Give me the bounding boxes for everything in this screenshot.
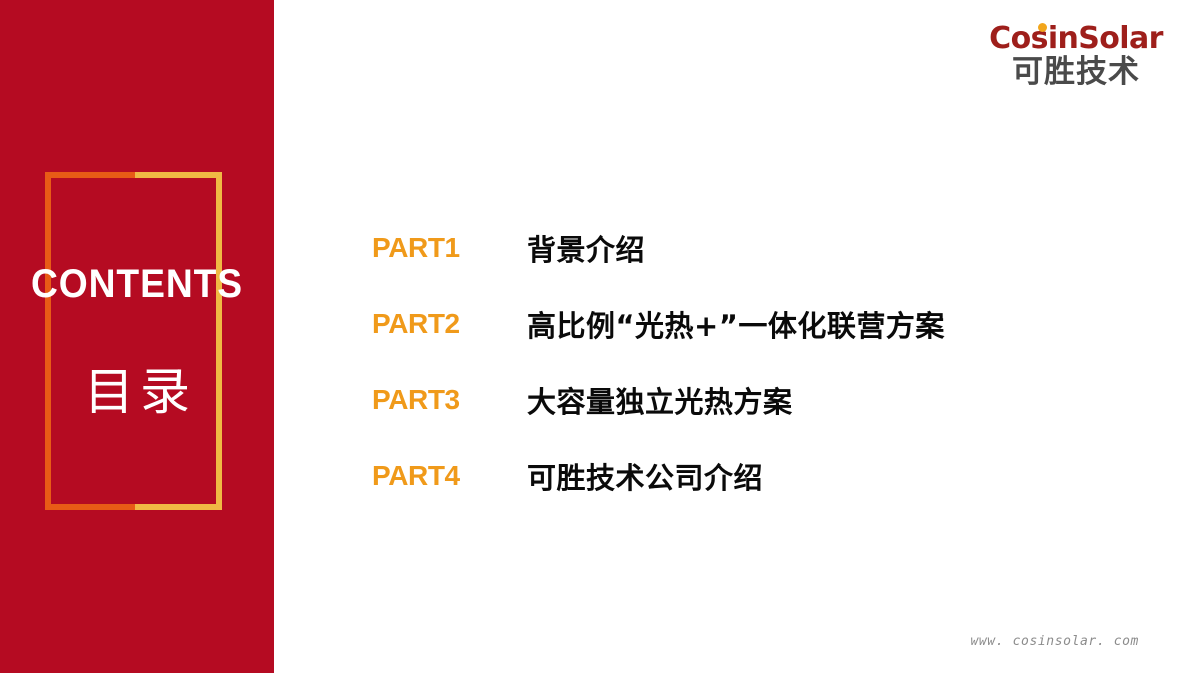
decorative-frame <box>45 172 222 510</box>
logo-wordmark: CosinSolar <box>978 24 1174 54</box>
footer-website-url: www. cosinsolar. com <box>970 634 1139 649</box>
page-title: CONTENTS <box>10 262 265 307</box>
agenda-item-3[interactable]: PART3 大容量独立光热方案 <box>372 362 1162 438</box>
page-subtitle: 目录 <box>0 352 274 424</box>
agenda-item-title: 大容量独立光热方案 <box>527 379 1162 421</box>
agenda-part-label: PART3 <box>372 384 527 416</box>
agenda-item-title: 高比例“光热+”一体化联营方案 <box>527 303 1162 345</box>
sun-dot-icon <box>1038 23 1047 32</box>
frame-half-orange <box>45 172 135 510</box>
frame-half-gold <box>135 172 222 510</box>
agenda-part-label: PART4 <box>372 460 527 492</box>
agenda-list: PART1 背景介绍 PART2 高比例“光热+”一体化联营方案 PART3 大… <box>372 210 1162 514</box>
agenda-item-title: 可胜技术公司介绍 <box>527 455 1162 497</box>
agenda-part-label: PART1 <box>372 232 527 264</box>
logo-chinese-name: 可胜技术 <box>978 57 1174 88</box>
company-logo: CosinSolar 可胜技术 <box>978 24 1174 92</box>
presentation-slide: CONTENTS 目录 CosinSolar 可胜技术 PART1 背景介绍 P… <box>0 0 1197 673</box>
agenda-item-4[interactable]: PART4 可胜技术公司介绍 <box>372 438 1162 514</box>
agenda-item-2[interactable]: PART2 高比例“光热+”一体化联营方案 <box>372 286 1162 362</box>
agenda-item-title: 背景介绍 <box>527 227 1162 269</box>
agenda-item-1[interactable]: PART1 背景介绍 <box>372 210 1162 286</box>
agenda-part-label: PART2 <box>372 308 527 340</box>
